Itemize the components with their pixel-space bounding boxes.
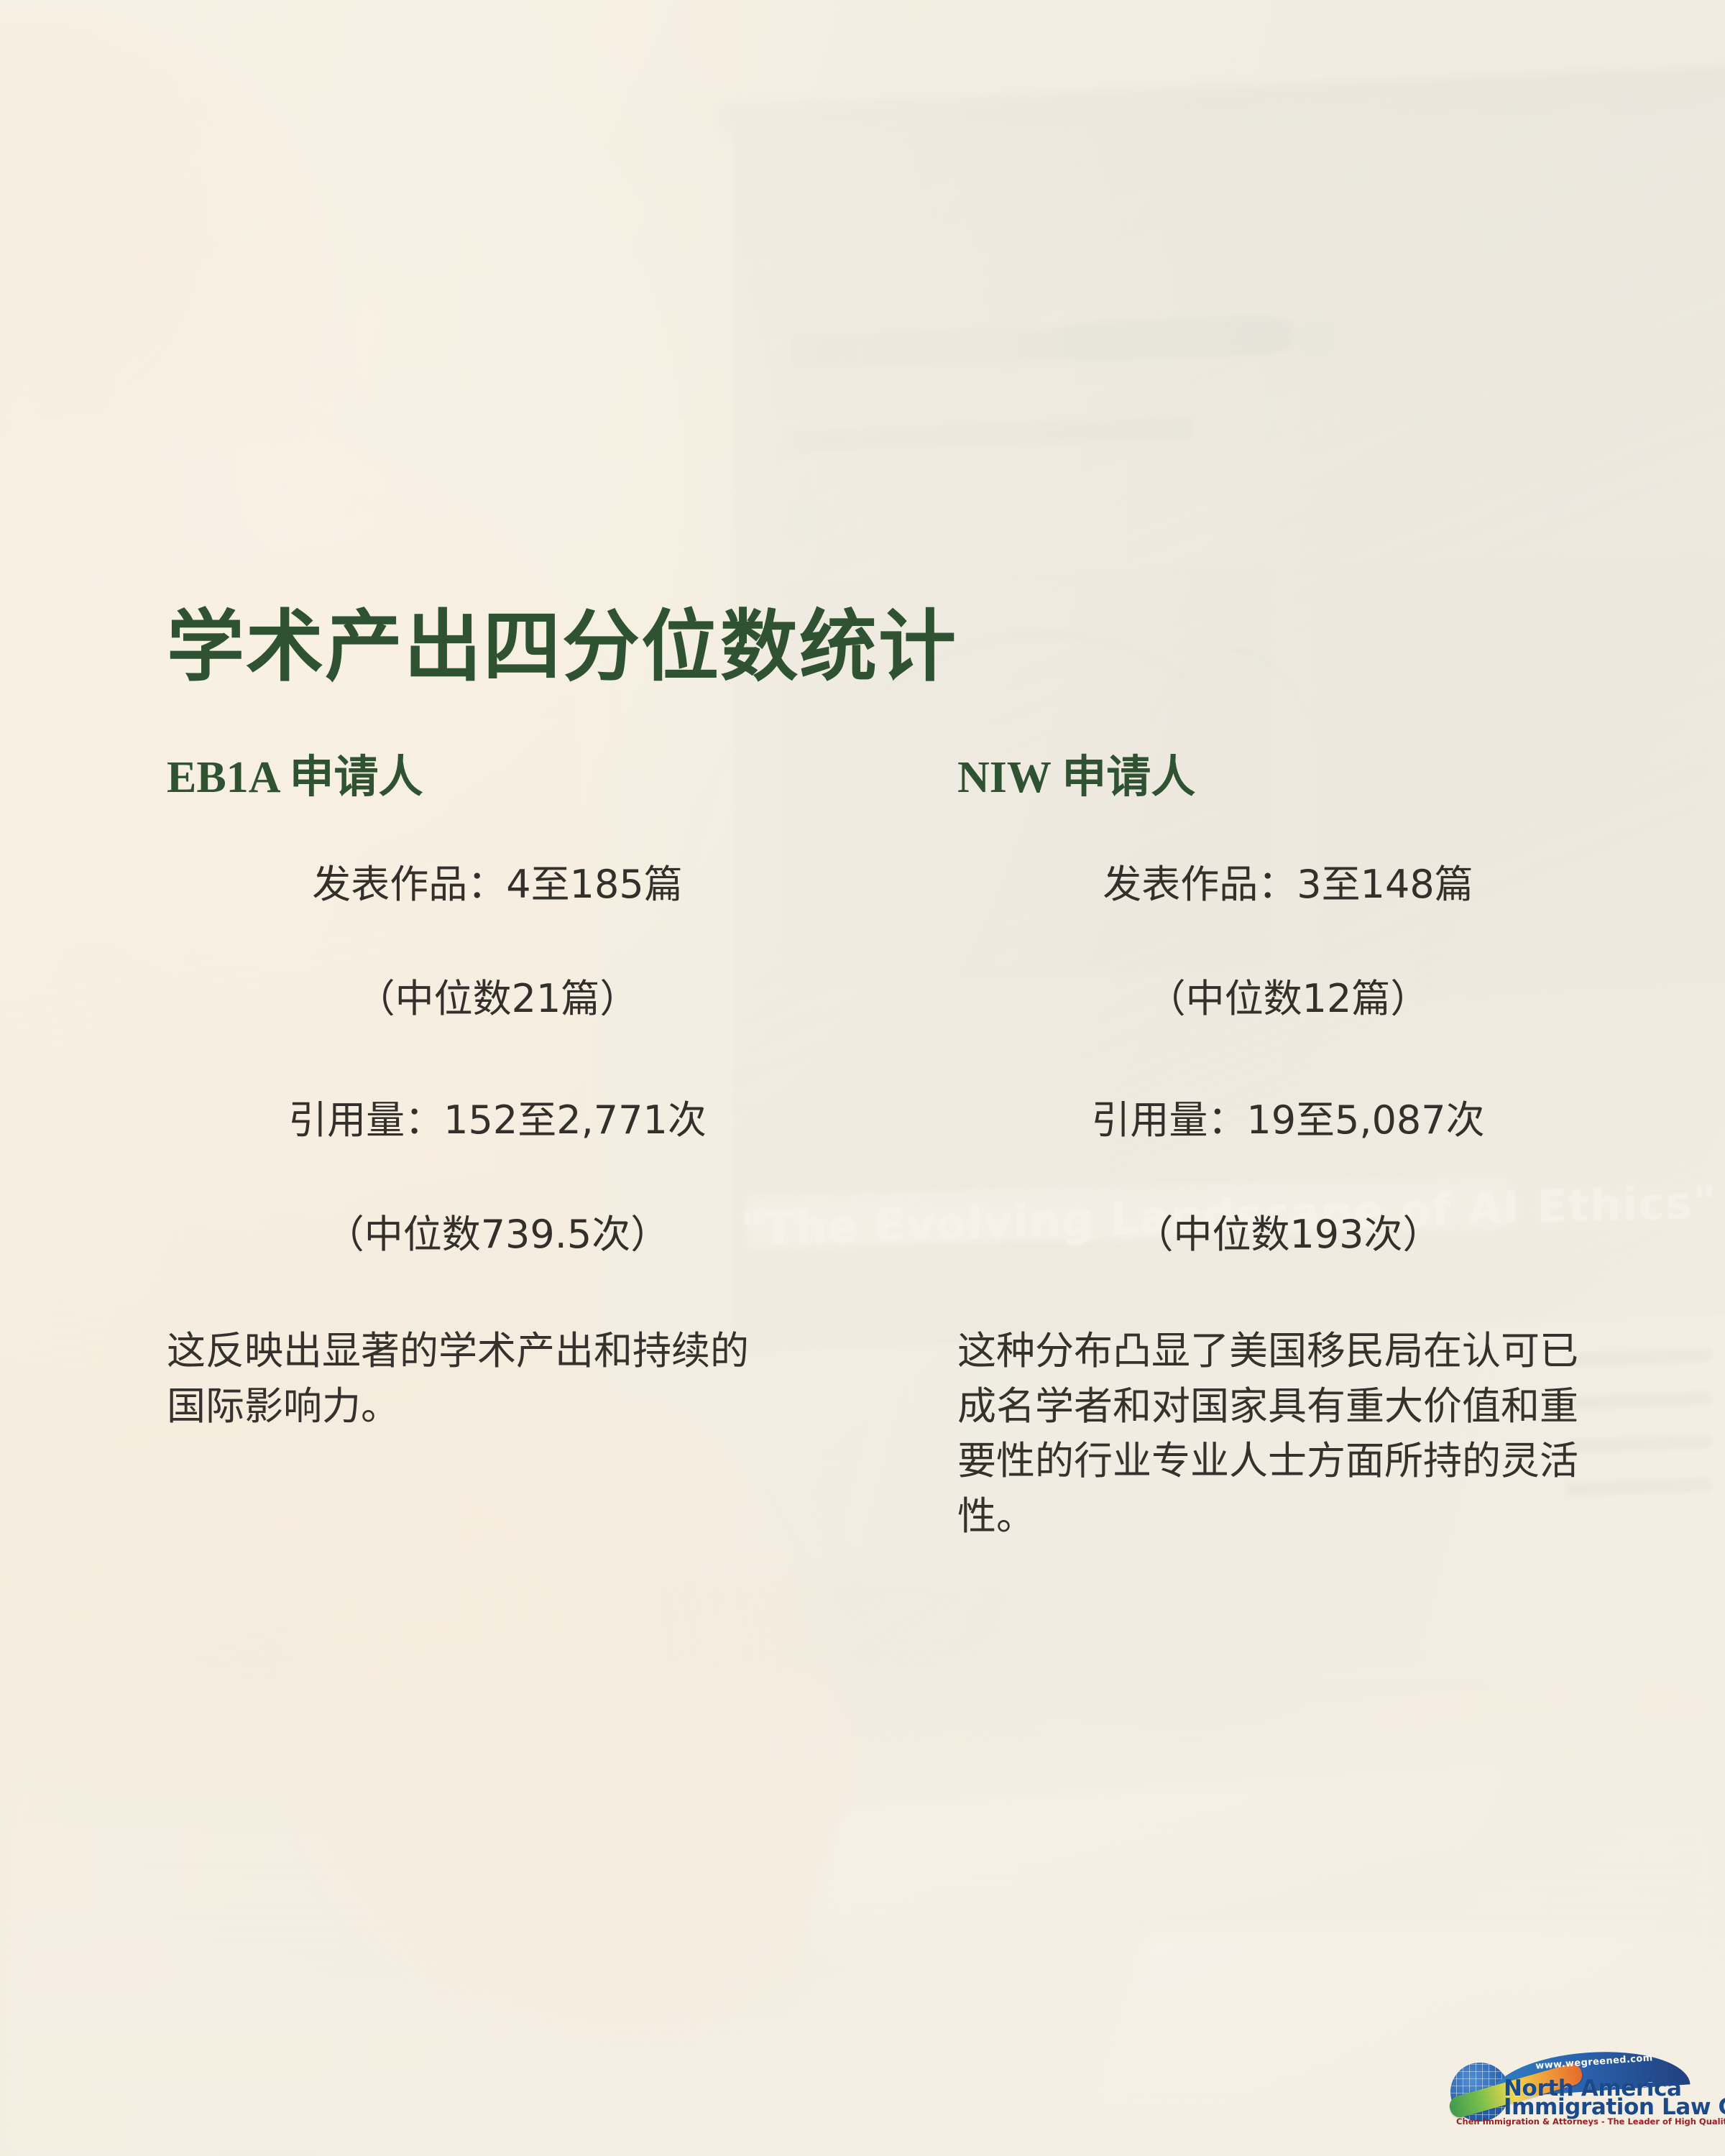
eb1a-publications-range: 发表作品：4至185篇	[167, 852, 929, 909]
column-eb1a-heading: EB1A 申请人	[167, 740, 929, 805]
column-niw-heading: NIW 申请人	[957, 740, 1719, 805]
comparison-columns: EB1A 申请人 发表作品：4至185篇 （中位数21篇） 引用量：152至2,…	[0, 740, 1725, 1544]
column-eb1a: EB1A 申请人 发表作品：4至185篇 （中位数21篇） 引用量：152至2,…	[167, 740, 929, 1544]
niw-publications-range: 发表作品：3至148篇	[957, 852, 1719, 909]
page-title: 学术产出四分位数统计	[167, 605, 957, 691]
niw-note: 这种分布凸显了美国移民局在认可已成名学者和对国家具有重大价值和重要性的行业专业人…	[957, 1324, 1590, 1544]
column-niw: NIW 申请人 发表作品：3至148篇 （中位数12篇） 引用量：19至5,08…	[957, 740, 1719, 1544]
eb1a-citations-range: 引用量：152至2,771次	[167, 1088, 929, 1145]
niw-citations-median: （中位数193次）	[957, 1202, 1719, 1259]
niw-citations-range: 引用量：19至5,087次	[957, 1088, 1719, 1145]
slide-content: 学术产出四分位数统计 EB1A 申请人 发表作品：4至185篇 （中位数21篇）…	[0, 0, 1725, 2156]
eb1a-citations-median: （中位数739.5次）	[167, 1202, 929, 1259]
logo-tagline: Chen Immigration & Attorneys - The Leade…	[1456, 2116, 1695, 2127]
company-logo[interactable]: www.wegreened.com North America Immigrat…	[1446, 2047, 1696, 2126]
niw-publications-median: （中位数12篇）	[957, 967, 1719, 1023]
eb1a-publications-median: （中位数21篇）	[167, 967, 929, 1023]
eb1a-note: 这反映出显著的学术产出和持续的国际影响力。	[167, 1324, 763, 1434]
